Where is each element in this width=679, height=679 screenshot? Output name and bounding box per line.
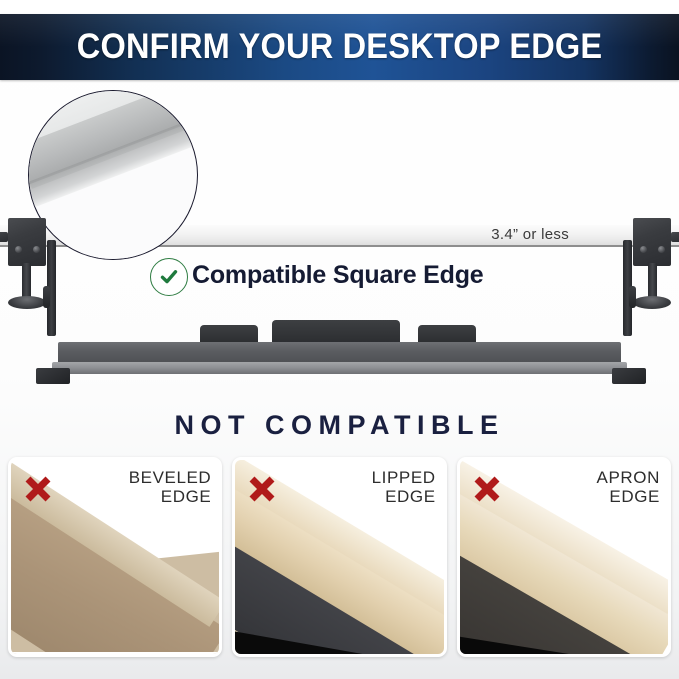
red-x-icon (472, 474, 502, 509)
tray-foot-right (612, 368, 646, 384)
panel-lipped-edge: LIPPED EDGE (232, 457, 446, 657)
panel-label-line1: BEVELED (129, 468, 212, 487)
panel-label-line2: EDGE (129, 487, 212, 506)
not-compatible-heading: NOT COMPATIBLE (0, 410, 679, 441)
green-check-icon (150, 258, 188, 296)
panel-label-lipped: LIPPED EDGE (372, 468, 436, 506)
product-scene: 3.4” or less Compatible Square Edge (0, 80, 679, 400)
page-title: CONFIRM YOUR DESKTOP EDGE (77, 27, 603, 67)
infographic-page: CONFIRM YOUR DESKTOP EDGE 3.4” or less C… (0, 0, 679, 679)
keyboard-tray-lip (52, 362, 627, 374)
right-clamp-mount (599, 218, 679, 358)
header-banner: CONFIRM YOUR DESKTOP EDGE (0, 14, 679, 80)
panel-label-beveled: BEVELED EDGE (129, 468, 212, 506)
red-x-icon (247, 474, 277, 509)
panel-apron-edge: APRON EDGE (457, 457, 671, 657)
panel-label-line2: EDGE (597, 487, 660, 506)
compatible-edge-label: Compatible Square Edge (192, 261, 484, 290)
bolt-icon (640, 246, 647, 253)
panel-label-line2: EDGE (372, 487, 436, 506)
panel-label-line1: LIPPED (372, 468, 436, 487)
clamp-screw-knob (633, 296, 671, 309)
not-compatible-panels: BEVELED EDGE LIPPED EDGE (8, 457, 671, 657)
panel-label-line1: APRON (597, 468, 660, 487)
red-x-icon (23, 474, 53, 509)
left-clamp-mount (0, 218, 80, 358)
panel-label-apron: APRON EDGE (597, 468, 660, 506)
measurement-label: 3.4” or less (491, 226, 569, 243)
clamp-screw-knob (8, 296, 46, 309)
keyboard-tray-body (58, 342, 621, 364)
bolt-icon (33, 246, 40, 253)
bolt-icon (15, 246, 22, 253)
bolt-icon (658, 246, 665, 253)
tray-foot-left (36, 368, 70, 384)
panel-beveled-edge: BEVELED EDGE (8, 457, 222, 657)
